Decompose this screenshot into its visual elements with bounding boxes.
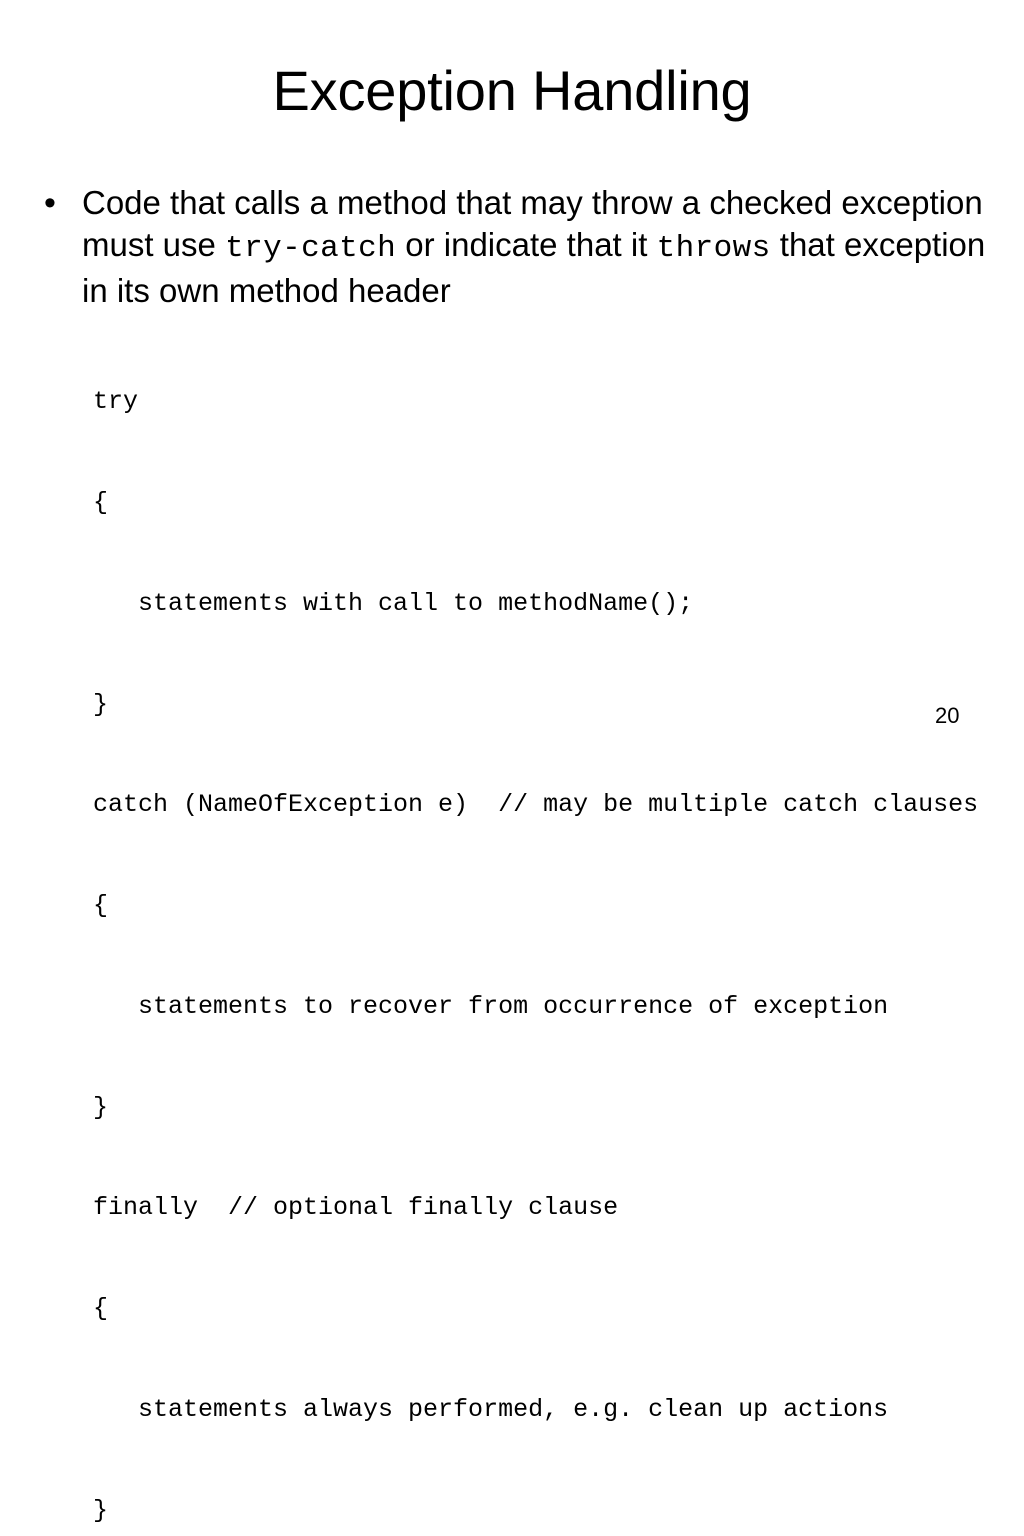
code-line: {	[93, 486, 978, 520]
code-snippet: try { statements with call to methodName…	[93, 318, 978, 1536]
code-line: }	[93, 1494, 978, 1528]
code-line: statements always performed, e.g. clean …	[93, 1393, 978, 1427]
bullet-list: • Code that calls a method that may thro…	[40, 182, 1004, 312]
code-line: statements with call to methodName();	[93, 587, 978, 621]
page-number: 20	[935, 703, 959, 729]
inline-code-throws: throws	[657, 231, 771, 266]
slide-canvas: Exception Handling • Code that calls a m…	[0, 0, 1024, 768]
inline-code-try-catch: try-catch	[225, 231, 396, 266]
list-item: • Code that calls a method that may thro…	[40, 182, 1004, 312]
bullet-text-part-2: or indicate that it	[396, 226, 656, 263]
code-line: finally // optional finally clause	[93, 1191, 978, 1225]
bullet-point-icon: •	[44, 182, 56, 224]
code-line: }	[93, 688, 978, 722]
page-title: Exception Handling	[0, 57, 1024, 125]
code-line: statements to recover from occurrence of…	[93, 990, 978, 1024]
code-line: }	[93, 1091, 978, 1125]
code-line: {	[93, 1292, 978, 1326]
bullet-item-text: Code that calls a method that may throw …	[82, 184, 985, 309]
code-line: catch (NameOfException e) // may be mult…	[93, 788, 978, 822]
code-line: try	[93, 385, 978, 419]
code-line: {	[93, 889, 978, 923]
